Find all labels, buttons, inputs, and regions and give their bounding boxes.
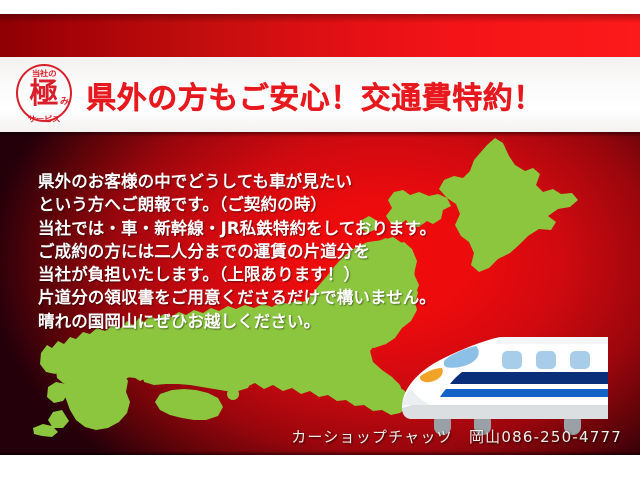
stamp-bottom-text: サービス <box>10 117 78 124</box>
top-red-strip <box>0 14 640 57</box>
stamp-reading-text: み <box>60 98 69 107</box>
body-line-7: 晴れの国岡山にぜひお越しください。 <box>38 310 436 333</box>
shinkansen-illustration <box>396 323 612 441</box>
body-line-4: ご成約の方には二人分までの運賃の片道分を <box>38 240 436 263</box>
body-line-5: 当社が負担いたします。（上限あります！） <box>38 263 436 286</box>
headline-title: 県外の方もご安心！交通費特約！ <box>86 73 544 117</box>
body-line-3: 当社では・車・新幹線・JR私鉄特約をしております。 <box>38 217 436 240</box>
body-copy: 県外のお客様の中でどうしても車が見たい という方へご朗報です。（ご契約の時） 当… <box>38 170 436 333</box>
gokumi-service-stamp-icon: 当社の 極 み サービス <box>10 61 78 129</box>
body-line-6: 片道分の領収書をご用意くださるだけで構いません。 <box>38 286 436 309</box>
banner-body: 県外のお客様の中でどうしても車が見たい という方へご朗報です。（ご契約の時） 当… <box>0 132 640 455</box>
body-line-2: という方へご朗報です。（ご契約の時） <box>38 193 436 216</box>
contact-info: カーショップチャッツ 岡山086-250-4777 <box>291 426 622 447</box>
body-line-1: 県外のお客様の中でどうしても車が見たい <box>38 170 436 193</box>
headline-band: 当社の 極 み サービス 県外の方もご安心！交通費特約！ <box>0 57 640 132</box>
transport-fee-promo-banner: 当社の 極 み サービス 県外の方もご安心！交通費特約！ <box>0 0 640 480</box>
